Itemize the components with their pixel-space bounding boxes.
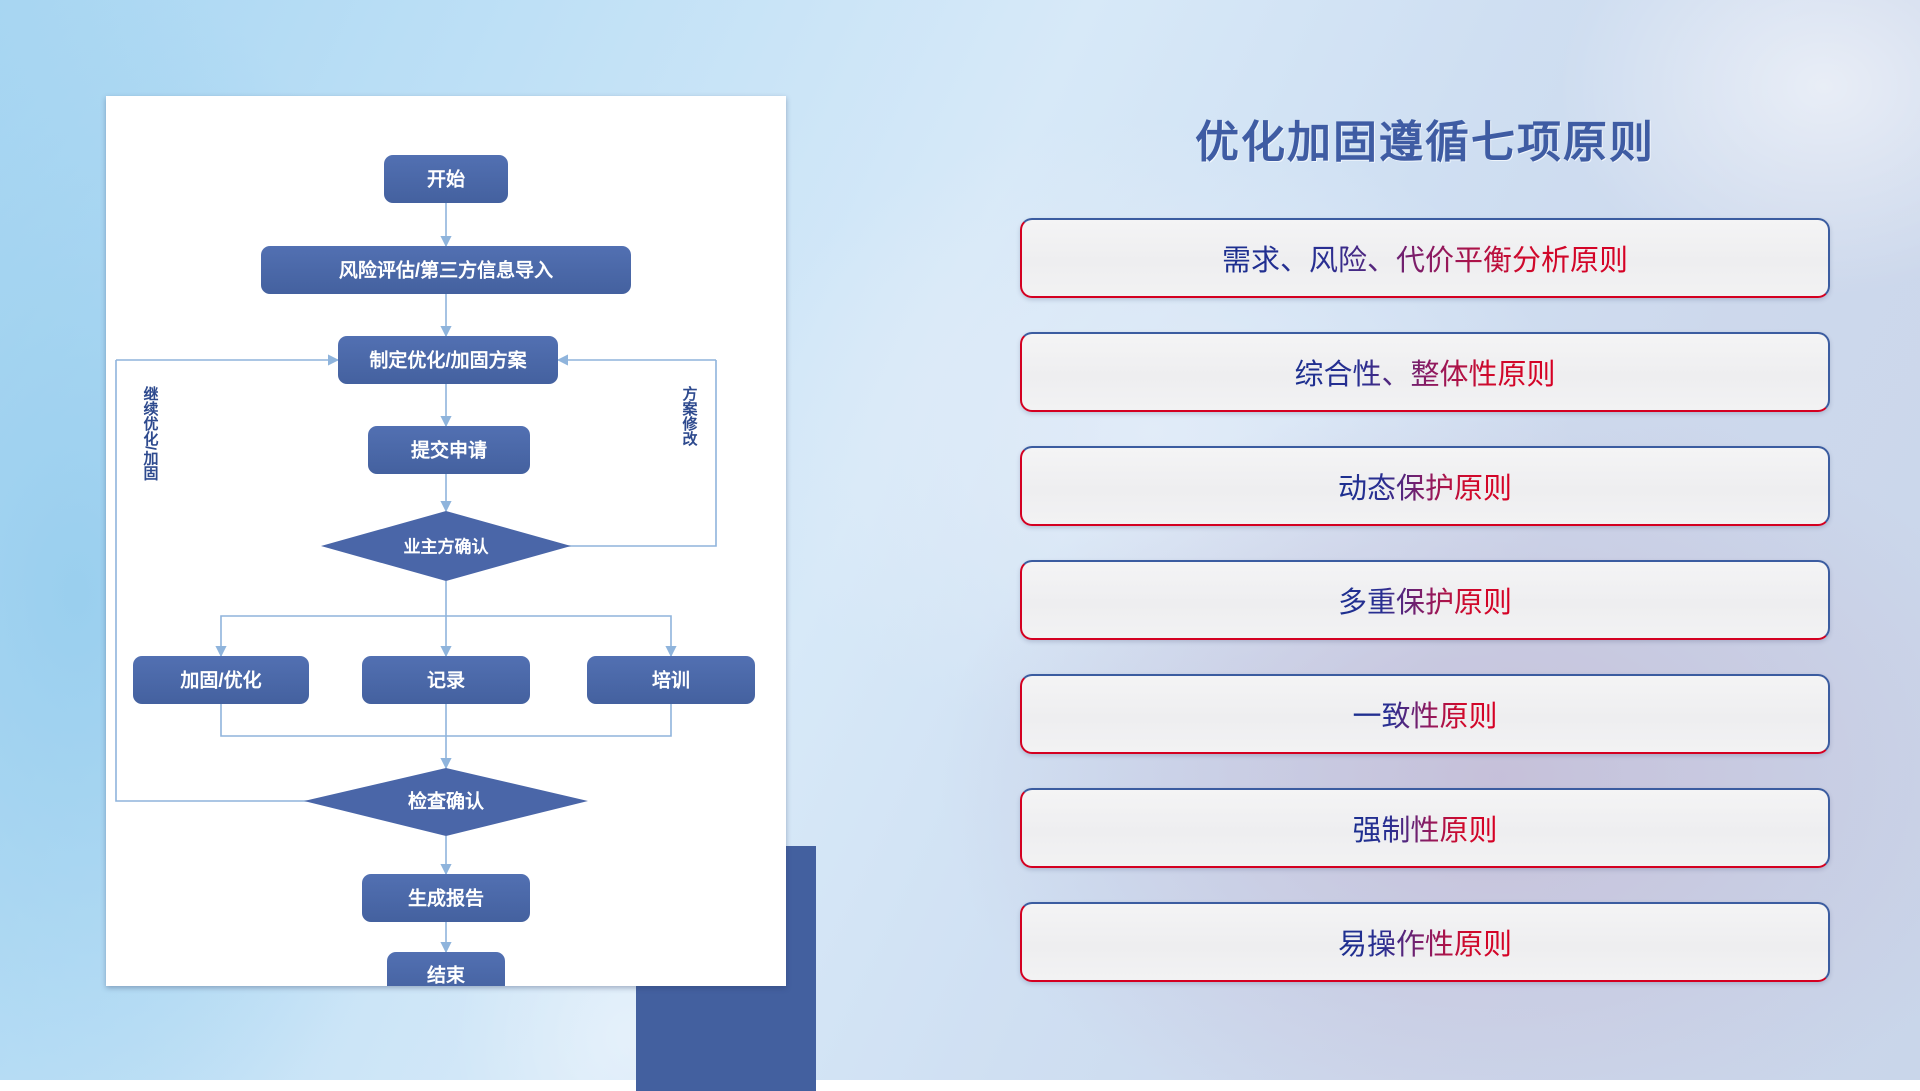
flow-node-record[interactable]: 记录 [362,656,530,704]
flow-node-reinforce[interactable]: 加固/优化 [133,656,309,704]
flow-edge-label-left: 继续优化/加固 [142,385,160,481]
flow-node-start[interactable]: 开始 [384,155,508,203]
principle-label: 综合性、整体性原则 [1294,351,1555,393]
flow-node-end[interactable]: 结束 [387,952,505,986]
flow-edge-label-right: 方案修改 [681,385,699,447]
principle-label: 强制性原则 [1352,807,1497,849]
principle-card[interactable]: 易操作性原则 [1020,902,1830,982]
principle-card[interactable]: 一致性原则 [1020,674,1830,754]
principle-card[interactable]: 多重保护原则 [1020,560,1830,640]
flow-node-submit[interactable]: 提交申请 [368,426,530,474]
principle-card[interactable]: 综合性、整体性原则 [1020,332,1830,412]
flow-node-label: 提交申请 [411,439,487,462]
flowchart-panel: 开始 风险评估/第三方信息导入 制定优化/加固方案 提交申请 业主方确认 加固/… [106,96,786,996]
flow-node-label: 业主方确认 [404,537,490,557]
flow-node-train[interactable]: 培训 [587,656,755,704]
flow-node-check[interactable]: 检查确认 [304,768,588,836]
flow-node-label: 检查确认 [408,790,484,813]
flow-node-risk[interactable]: 风险评估/第三方信息导入 [261,246,631,294]
flow-node-label: 培训 [652,669,690,692]
principle-label: 多重保护原则 [1338,579,1512,621]
flow-node-label: 制定优化/加固方案 [369,349,527,372]
flow-node-label: 生成报告 [408,887,484,910]
flow-node-plan[interactable]: 制定优化/加固方案 [338,336,558,384]
principle-label: 需求、风险、代价平衡分析原则 [1222,237,1628,279]
flow-node-label: 结束 [427,964,466,987]
flow-node-owner-confirm[interactable]: 业主方确认 [321,511,571,581]
flow-node-label: 加固/优化 [179,669,261,692]
principle-label: 一致性原则 [1352,693,1497,735]
principle-list: 需求、风险、代价平衡分析原则 综合性、整体性原则 动态保护原则 多重保护原则 一… [1020,218,1830,1016]
principle-label: 动态保护原则 [1338,465,1512,507]
flow-node-report[interactable]: 生成报告 [362,874,530,922]
flowchart-diagram: 开始 风险评估/第三方信息导入 制定优化/加固方案 提交申请 业主方确认 加固/… [106,96,786,986]
flow-node-label: 风险评估/第三方信息导入 [339,259,553,282]
page-title: 优化加固遵循七项原则 [1020,106,1830,170]
flow-node-label: 开始 [427,168,465,191]
principle-card[interactable]: 动态保护原则 [1020,446,1830,526]
principle-card[interactable]: 强制性原则 [1020,788,1830,868]
principle-label: 易操作性原则 [1338,921,1512,963]
principle-card[interactable]: 需求、风险、代价平衡分析原则 [1020,218,1830,298]
flow-node-label: 记录 [427,670,465,692]
principles-panel: 优化加固遵循七项原则 需求、风险、代价平衡分析原则 综合性、整体性原则 动态保护… [1020,96,1830,1016]
